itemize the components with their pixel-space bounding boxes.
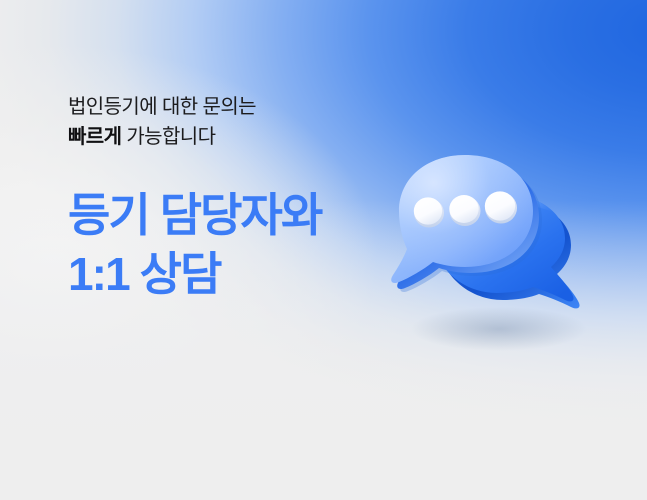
headline-line-2: 1:1 상담 — [68, 245, 321, 304]
headline-line-1: 등기 담당자와 — [68, 186, 321, 245]
promo-banner: 법인등기에 대한 문의는 빠르게 가능합니다 등기 담당자와 1:1 상담 — [0, 0, 647, 500]
eyebrow-line-2-rest: 가능합니다 — [121, 126, 215, 148]
eyebrow-line-2: 빠르게 가능합니다 — [68, 122, 321, 152]
chat-bubbles-illustration — [381, 133, 601, 348]
banner-copy: 법인등기에 대한 문의는 빠르게 가능합니다 등기 담당자와 1:1 상담 — [68, 92, 321, 304]
illustration-shadow — [411, 307, 587, 351]
eyebrow-line-1: 법인등기에 대한 문의는 — [68, 92, 321, 122]
eyebrow-emphasis: 빠르게 — [68, 126, 121, 148]
page-title: 등기 담당자와 1:1 상담 — [68, 152, 321, 304]
